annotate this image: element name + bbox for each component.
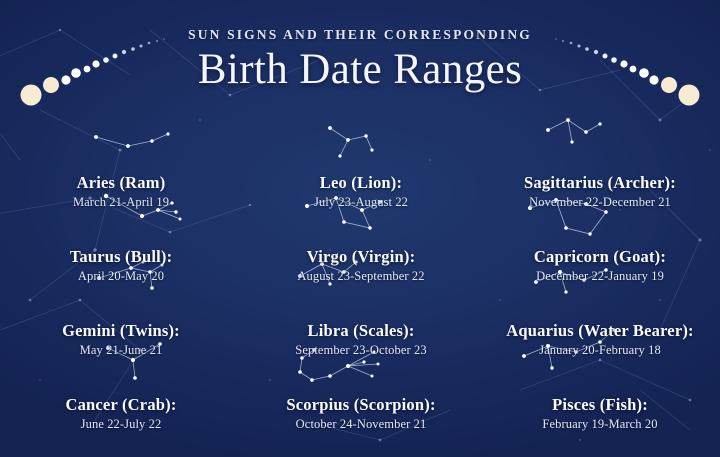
zodiac-entry-capricorn: Capricorn (Goat): December 22-January 19 bbox=[480, 212, 720, 286]
sign-name: Cancer (Crab): bbox=[65, 396, 176, 415]
sign-name: Aries (Ram) bbox=[77, 174, 166, 193]
sign-name: Leo (Lion): bbox=[320, 174, 402, 193]
sign-dates: April 20-May 20 bbox=[78, 269, 164, 284]
sign-dates: May 21-June 21 bbox=[80, 343, 163, 358]
sign-dates: December 22-January 19 bbox=[536, 269, 664, 284]
sign-dates: July 23-August 22 bbox=[314, 195, 408, 210]
sign-name: Taurus (Bull): bbox=[70, 248, 173, 267]
sign-dates: October 24-November 21 bbox=[296, 417, 427, 432]
zodiac-entry-gemini: Gemini (Twins): May 21-June 21 bbox=[0, 286, 242, 360]
sign-name: Aquarius (Water Bearer): bbox=[506, 322, 694, 341]
zodiac-entry-leo: Leo (Lion): July 23-August 22 bbox=[242, 138, 480, 212]
zodiac-grid: Aries (Ram) March 21-April 19 Taurus (Bu… bbox=[0, 138, 720, 438]
zodiac-column-3: Sagittarius (Archer): November 22-Decemb… bbox=[480, 138, 720, 438]
zodiac-entry-scorpius: Scorpius (Scorpion): October 24-November… bbox=[242, 360, 480, 434]
zodiac-entry-pisces: Pisces (Fish): February 19-March 20 bbox=[480, 360, 720, 434]
zodiac-birth-date-poster: SUN SIGNS AND THEIR CORRESPONDING Birth … bbox=[0, 0, 720, 457]
poster-header: SUN SIGNS AND THEIR CORRESPONDING Birth … bbox=[0, 28, 720, 93]
sign-name: Capricorn (Goat): bbox=[534, 248, 666, 267]
zodiac-entry-aquarius: Aquarius (Water Bearer): January 20-Febr… bbox=[480, 286, 720, 360]
sign-name: Pisces (Fish): bbox=[552, 396, 648, 415]
page-title: Birth Date Ranges bbox=[0, 47, 720, 93]
sign-dates: January 20-February 18 bbox=[539, 343, 661, 358]
zodiac-entry-taurus: Taurus (Bull): April 20-May 20 bbox=[0, 212, 242, 286]
zodiac-column-1: Aries (Ram) March 21-April 19 Taurus (Bu… bbox=[0, 138, 242, 438]
zodiac-entry-libra: Libra (Scales): September 23-October 23 bbox=[242, 286, 480, 360]
zodiac-entry-aries: Aries (Ram) March 21-April 19 bbox=[0, 138, 242, 212]
sign-name: Sagittarius (Archer): bbox=[524, 174, 676, 193]
poster-eyebrow: SUN SIGNS AND THEIR CORRESPONDING bbox=[0, 28, 720, 43]
sign-dates: March 21-April 19 bbox=[73, 195, 169, 210]
sign-dates: February 19-March 20 bbox=[542, 417, 657, 432]
zodiac-entry-sagittarius: Sagittarius (Archer): November 22-Decemb… bbox=[480, 138, 720, 212]
sign-dates: August 23-September 22 bbox=[297, 269, 424, 284]
sign-dates: September 23-October 23 bbox=[295, 343, 426, 358]
sign-dates: June 22-July 22 bbox=[81, 417, 162, 432]
sign-name: Gemini (Twins): bbox=[62, 322, 180, 341]
zodiac-entry-cancer: Cancer (Crab): June 22-July 22 bbox=[0, 360, 242, 434]
sign-dates: November 22-December 21 bbox=[529, 195, 671, 210]
sign-name: Libra (Scales): bbox=[307, 322, 414, 341]
sign-name: Scorpius (Scorpion): bbox=[286, 396, 435, 415]
zodiac-column-2: Leo (Lion): July 23-August 22 Virgo (Vir… bbox=[242, 138, 480, 438]
zodiac-entry-virgo: Virgo (Virgin): August 23-September 22 bbox=[242, 212, 480, 286]
sign-name: Virgo (Virgin): bbox=[307, 248, 416, 267]
